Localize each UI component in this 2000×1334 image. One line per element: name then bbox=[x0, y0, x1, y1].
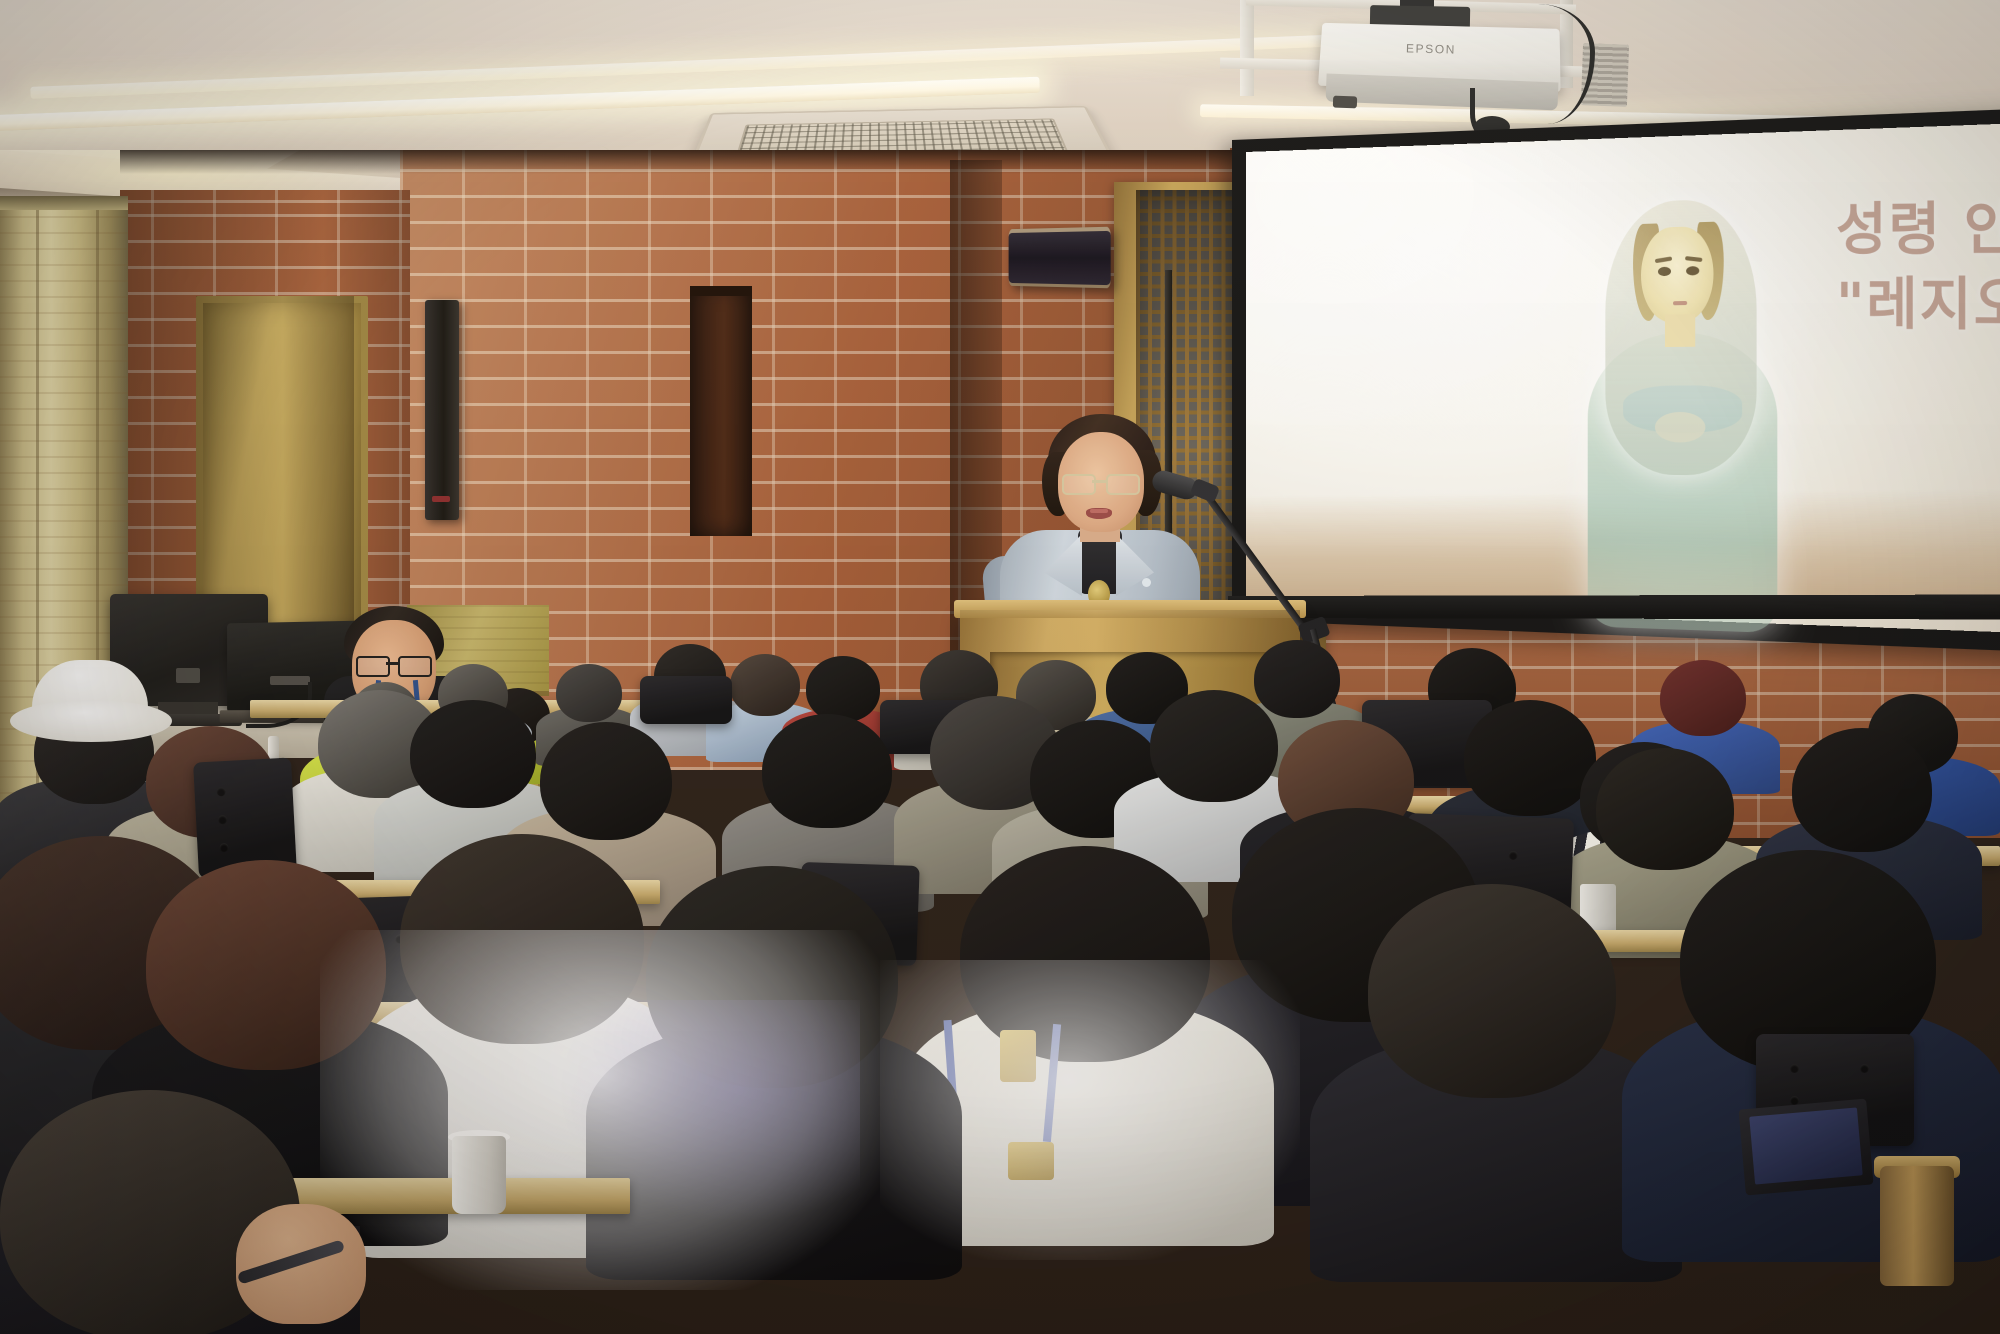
audience-head bbox=[806, 656, 880, 722]
audience-head bbox=[540, 722, 672, 840]
presenter-lip-highlight bbox=[1090, 509, 1108, 513]
projector-brand-label: EPSON bbox=[1386, 41, 1476, 57]
projector-lens-icon bbox=[1333, 96, 1357, 109]
glasses-icon bbox=[356, 656, 390, 677]
audience-head bbox=[730, 654, 800, 716]
glasses-bridge bbox=[386, 662, 398, 665]
audience-head bbox=[556, 664, 622, 722]
wall-niche bbox=[690, 286, 752, 536]
wall-speaker-icon bbox=[1009, 227, 1111, 289]
paper-cup bbox=[452, 1136, 506, 1214]
slide-text-line-2: "레지오 bbox=[1836, 268, 2000, 345]
audience-head bbox=[1596, 748, 1734, 870]
audience-head bbox=[1792, 728, 1932, 852]
bucket-hat-brim bbox=[10, 700, 172, 742]
audience-head bbox=[1368, 884, 1616, 1098]
speaker-logo bbox=[432, 496, 450, 502]
glasses-bridge bbox=[1092, 480, 1106, 483]
glasses-icon bbox=[1062, 474, 1096, 495]
glasses-icon bbox=[1106, 474, 1140, 495]
projector-mount-rail bbox=[1240, 0, 1254, 96]
audience-head bbox=[1254, 640, 1340, 718]
panel-top-rail bbox=[0, 196, 128, 210]
wall-niche-top bbox=[690, 286, 752, 296]
overexposed-highlight bbox=[880, 960, 1300, 1260]
slide-text-block: 성령 안 "레지오 bbox=[1836, 191, 2000, 345]
audience-head bbox=[410, 700, 536, 808]
audience-head bbox=[762, 714, 892, 828]
photo-scene: EPSON bbox=[0, 0, 2000, 1334]
presenter-jacket-button bbox=[1142, 578, 1151, 587]
glasses-icon bbox=[398, 656, 432, 677]
audience-head bbox=[1464, 700, 1596, 816]
screen-glare bbox=[1246, 141, 1685, 463]
wall-speaker-icon bbox=[425, 300, 459, 520]
screen-bottom-bar bbox=[1228, 594, 2000, 619]
tablet-screen[interactable] bbox=[1749, 1107, 1863, 1184]
travel-mug bbox=[1880, 1166, 1954, 1286]
audience-head-red-hair bbox=[1660, 660, 1746, 736]
slide-text-line-1: 성령 안 bbox=[1836, 191, 2000, 268]
chair-back bbox=[640, 676, 732, 724]
monitor-logo bbox=[176, 668, 200, 683]
audience-head bbox=[1150, 690, 1278, 802]
